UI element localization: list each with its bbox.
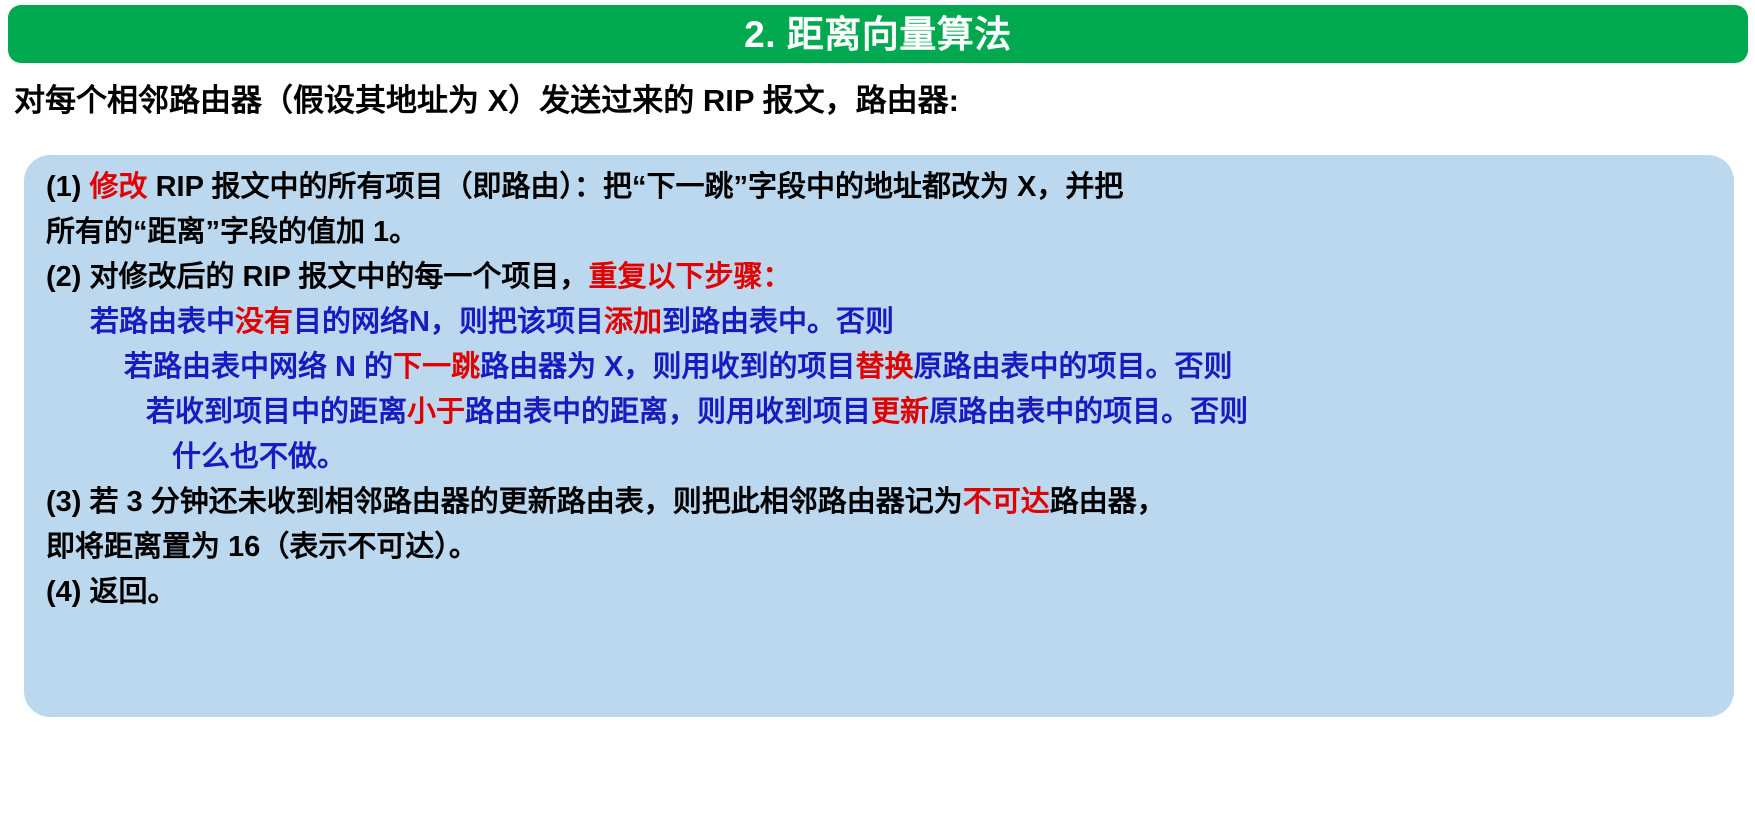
title-banner: 2. 距离向量算法	[8, 5, 1748, 63]
substep-2-keyword-1: 下一跳	[393, 351, 480, 383]
page-title: 2. 距离向量算法	[744, 16, 1012, 53]
step-4-text: (4) 返回。	[46, 576, 177, 608]
step-3-line-2: 即将距离置为 16（表示不可达）。	[46, 533, 1712, 562]
substep-1-part-c: 到路由表中。否则	[662, 306, 894, 338]
step-4-line: (4) 返回。	[46, 578, 1712, 607]
substep-3-part-c: 原路由表中的项目。否则	[929, 396, 1248, 428]
substep-3-part-b: 路由表中的距离，则用收到项目	[465, 396, 871, 428]
substep-2-part-b: 路由器为 X，则用收到的项目	[480, 351, 855, 383]
slide-canvas: 2. 距离向量算法 对每个相邻路由器（假设其地址为 X）发送过来的 RIP 报文…	[0, 0, 1755, 834]
substep-1-part-b: 目的网络N，则把该项目	[293, 306, 604, 338]
substep-1-keyword-2: 添加	[604, 306, 662, 338]
substep-1-line: 若路由表中没有目的网络N，则把该项目添加到路由表中。否则	[46, 308, 1712, 337]
step-1-label: (1)	[46, 171, 90, 203]
step-3-line-1: (3) 若 3 分钟还未收到相邻路由器的更新路由表，则把此相邻路由器记为不可达路…	[46, 488, 1712, 517]
step-2-keyword: 重复以下步骤：	[588, 261, 791, 293]
step-3-part-a: (3) 若 3 分钟还未收到相邻路由器的更新路由表，则把此相邻路由器记为	[46, 486, 963, 518]
step-1-rest: RIP 报文中的所有项目（即路由）：把“下一跳”字段中的地址都改为 X，并把	[148, 171, 1124, 203]
substep-4-line: 什么也不做。	[46, 443, 1712, 472]
step-1-continuation: 所有的“距离”字段的值加 1。	[46, 216, 418, 248]
substep-3-keyword-2: 更新	[871, 396, 929, 428]
algorithm-steps-panel: (1) 修改 RIP 报文中的所有项目（即路由）：把“下一跳”字段中的地址都改为…	[24, 155, 1734, 717]
substep-2-part-c: 原路由表中的项目。否则	[914, 351, 1233, 383]
step-2-line: (2) 对修改后的 RIP 报文中的每一个项目，重复以下步骤：	[46, 263, 1712, 292]
substep-2-line: 若路由表中网络 N 的下一跳路由器为 X，则用收到的项目替换原路由表中的项目。否…	[46, 353, 1712, 382]
step-1-line-2: 所有的“距离”字段的值加 1。	[46, 218, 1712, 247]
substep-3-line: 若收到项目中的距离小于路由表中的距离，则用收到项目更新原路由表中的项目。否则	[46, 398, 1712, 427]
step-3-continuation: 即将距离置为 16（表示不可达）。	[46, 531, 478, 563]
step-2-label: (2) 对修改后的 RIP 报文中的每一个项目，	[46, 261, 588, 293]
step-3-keyword: 不可达	[963, 486, 1050, 518]
substep-1-keyword-1: 没有	[235, 306, 293, 338]
substep-3-part-a: 若收到项目中的距离	[146, 396, 407, 428]
substep-1-part-a: 若路由表中	[90, 306, 235, 338]
step-3-part-b: 路由器，	[1050, 486, 1166, 518]
step-1-keyword: 修改	[90, 171, 148, 203]
subtitle-text: 对每个相邻路由器（假设其地址为 X）发送过来的 RIP 报文，路由器:	[14, 80, 1734, 122]
substep-4-text: 什么也不做。	[172, 441, 346, 473]
substep-2-keyword-2: 替换	[855, 351, 913, 383]
substep-3-keyword-1: 小于	[407, 396, 465, 428]
substep-2-part-a: 若路由表中网络 N 的	[124, 351, 393, 383]
step-1-line-1: (1) 修改 RIP 报文中的所有项目（即路由）：把“下一跳”字段中的地址都改为…	[46, 173, 1712, 202]
